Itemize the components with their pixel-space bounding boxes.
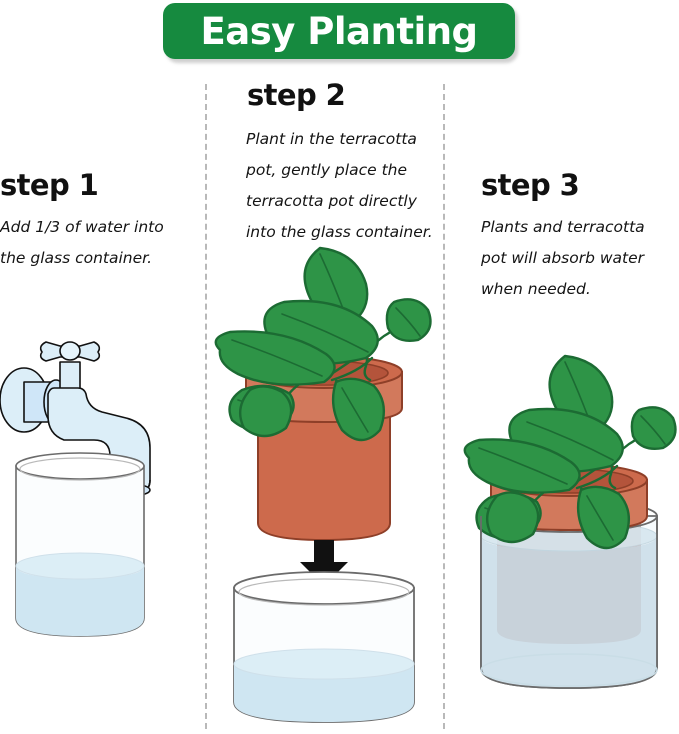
step-2-description-line: Plant in the terracotta (246, 124, 441, 155)
leaf (632, 407, 676, 448)
step-1-description-line: Add 1/3 of water into (0, 212, 200, 243)
step-3-illustration (463, 330, 675, 730)
step-1-column: step 1 Add 1/3 of water into the glass c… (0, 0, 205, 734)
step-2-description: Plant in the terracotta pot, gently plac… (246, 124, 441, 248)
infographic-canvas: Easy Planting step 1 Add 1/3 of water in… (0, 0, 679, 734)
step-1-description-line: the glass container. (0, 243, 200, 274)
step-2-title: step 2 (247, 78, 345, 112)
step-1-description: Add 1/3 of water into the glass containe… (0, 212, 200, 274)
glass-container (234, 572, 414, 722)
step-2-description-line: terracotta pot directly (246, 186, 441, 217)
glass-container (16, 453, 144, 636)
leaf (387, 299, 431, 340)
leaf (487, 492, 538, 542)
step-2-illustration (208, 240, 440, 730)
step-3-column: step 3 Plants and terracotta pot will ab… (443, 0, 679, 734)
step-3-description: Plants and terracotta pot will absorb wa… (481, 212, 679, 305)
water-fill (481, 536, 657, 688)
step-1-illustration (0, 330, 203, 660)
step-3-title: step 3 (481, 168, 579, 202)
step-2-description-line: pot, gently place the (246, 155, 441, 186)
water-surface (16, 553, 144, 579)
step-3-description-line: Plants and terracotta (481, 212, 679, 243)
water-surface (234, 649, 414, 679)
step-3-description-line: when needed. (481, 274, 679, 305)
step-3-description-line: pot will absorb water (481, 243, 679, 274)
step-2-column: step 2 Plant in the terracotta pot, gent… (205, 0, 443, 734)
leaf (240, 386, 291, 436)
step-1-title: step 1 (0, 168, 98, 202)
